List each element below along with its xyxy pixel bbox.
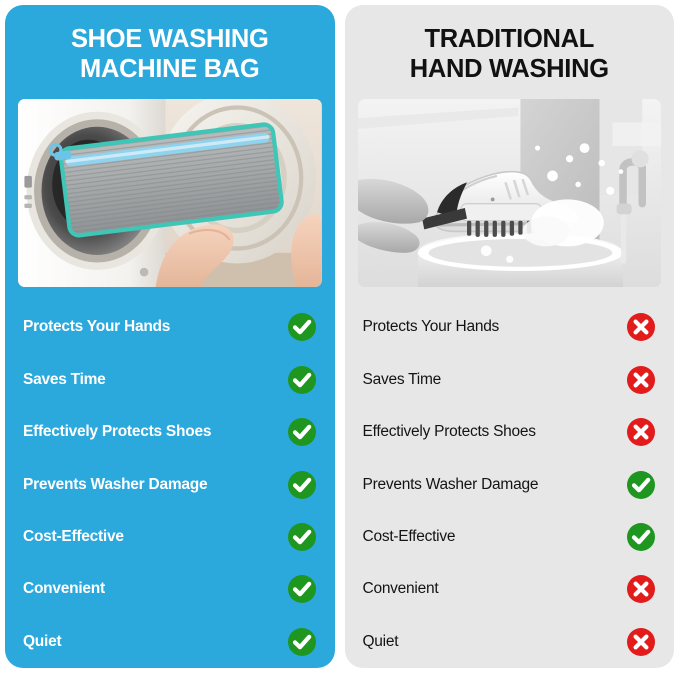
check-circle-icon bbox=[287, 574, 317, 604]
comparison-infographic: SHOE WASHING MACHINE BAG bbox=[0, 0, 679, 680]
cross-circle-icon bbox=[626, 627, 656, 657]
feature-row: Saves Time bbox=[23, 365, 317, 395]
feature-label: Quiet bbox=[23, 633, 61, 651]
panel-traditional-hand-washing: TRADITIONAL HAND WASHING bbox=[345, 5, 675, 668]
feature-label: Effectively Protects Shoes bbox=[23, 423, 211, 441]
cross-circle-icon bbox=[626, 312, 656, 342]
feature-row: Convenient bbox=[23, 574, 317, 604]
cross-circle-icon bbox=[626, 574, 656, 604]
feature-label: Prevents Washer Damage bbox=[23, 476, 207, 494]
feature-label: Effectively Protects Shoes bbox=[363, 423, 536, 441]
feature-label: Convenient bbox=[23, 580, 105, 598]
feature-row: Effectively Protects Shoes bbox=[23, 417, 317, 447]
feature-row: Saves Time bbox=[363, 365, 657, 395]
check-circle-icon bbox=[626, 470, 656, 500]
washing-machine-illustration bbox=[18, 99, 322, 287]
panel-shoe-washing-machine-bag: SHOE WASHING MACHINE BAG bbox=[5, 5, 335, 668]
feature-label: Prevents Washer Damage bbox=[363, 476, 539, 494]
feature-list-manual: Protects Your Hands Saves Time Effective… bbox=[345, 287, 675, 668]
feature-row: Protects Your Hands bbox=[363, 312, 657, 342]
feature-row: Cost-Effective bbox=[363, 522, 657, 552]
panel-title-product: SHOE WASHING MACHINE BAG bbox=[5, 5, 335, 84]
handwashing-illustration bbox=[358, 99, 662, 287]
check-circle-icon bbox=[287, 470, 317, 500]
check-circle-icon bbox=[287, 312, 317, 342]
feature-row: Quiet bbox=[363, 627, 657, 657]
feature-label: Cost-Effective bbox=[23, 528, 124, 546]
feature-row: Prevents Washer Damage bbox=[363, 470, 657, 500]
check-circle-icon bbox=[287, 365, 317, 395]
feature-label: Protects Your Hands bbox=[363, 318, 500, 336]
feature-list-product: Protects Your Hands Saves Time Effective… bbox=[5, 287, 335, 668]
check-circle-icon bbox=[626, 522, 656, 552]
feature-label: Convenient bbox=[363, 580, 439, 598]
feature-label: Protects Your Hands bbox=[23, 318, 170, 336]
feature-label: Saves Time bbox=[363, 371, 441, 389]
cross-circle-icon bbox=[626, 417, 656, 447]
feature-row: Quiet bbox=[23, 627, 317, 657]
check-circle-icon bbox=[287, 522, 317, 552]
handwashing-photo-sneaker bbox=[358, 99, 662, 287]
cross-circle-icon bbox=[626, 365, 656, 395]
panel-title-manual: TRADITIONAL HAND WASHING bbox=[345, 5, 675, 84]
product-photo-washing-machine bbox=[18, 99, 322, 287]
feature-row: Convenient bbox=[363, 574, 657, 604]
feature-row: Prevents Washer Damage bbox=[23, 470, 317, 500]
check-circle-icon bbox=[287, 417, 317, 447]
feature-row: Cost-Effective bbox=[23, 522, 317, 552]
feature-label: Cost-Effective bbox=[363, 528, 456, 546]
feature-row: Effectively Protects Shoes bbox=[363, 417, 657, 447]
feature-label: Quiet bbox=[363, 633, 399, 651]
feature-label: Saves Time bbox=[23, 371, 106, 389]
check-circle-icon bbox=[287, 627, 317, 657]
feature-row: Protects Your Hands bbox=[23, 312, 317, 342]
